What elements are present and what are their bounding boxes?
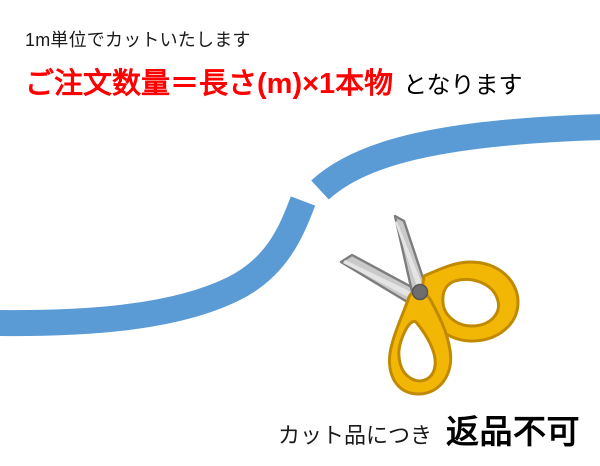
no-return-strong: 返品不可 xyxy=(446,413,580,450)
order-formula-line: ご注文数量＝長さ(m)×1本物となります xyxy=(25,70,522,99)
no-return-lead: カット品につき xyxy=(278,423,432,448)
no-return-line: カット品につき返品不可 xyxy=(278,415,580,448)
order-formula-tail: となります xyxy=(403,72,522,99)
scissors xyxy=(341,216,518,394)
illustration-canvas: 1m単位でカットいたします ご注文数量＝長さ(m)×1本物となります カット品に… xyxy=(0,0,600,466)
scissors-pivot xyxy=(413,285,428,300)
blue-cable-left-segment xyxy=(0,201,303,323)
blue-cable-right-segment xyxy=(320,127,600,190)
order-formula-emphasis: ご注文数量＝長さ(m)×1本物 xyxy=(25,68,393,100)
cut-unit-note: 1m単位でカットいたします xyxy=(25,31,251,49)
